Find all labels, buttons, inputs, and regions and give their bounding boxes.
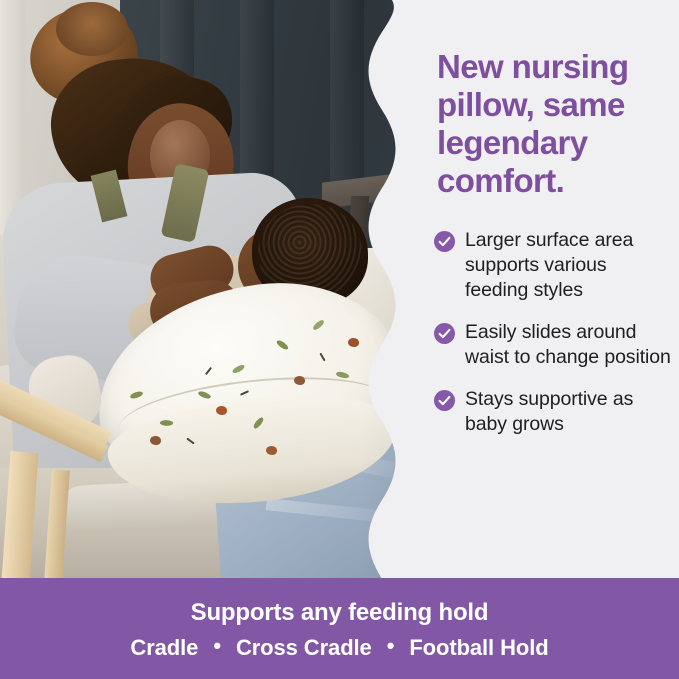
feature-list: Larger surface area supports various fee… [434,228,672,437]
pillow-print-animal [216,406,227,415]
pillow-print-animal [294,376,305,385]
banner-hold-list: Cradle • Cross Cradle • Football Hold [0,635,679,661]
list-item: Stays supportive as baby grows [434,387,672,437]
list-item-label: Easily slides around waist to change pos… [465,320,672,370]
hold-football: Football Hold [409,635,548,660]
hold-cradle: Cradle [130,635,198,660]
banner-title: Supports any feeding hold [0,599,679,627]
check-circle-icon [434,231,455,252]
list-item-label: Larger surface area supports various fee… [465,228,672,303]
mother-hair-bun-top [56,2,128,56]
list-item: Easily slides around waist to change pos… [434,320,672,370]
text-panel: New nursing pillow, same legendary comfo… [410,0,679,579]
pillow-print-animal [266,446,277,455]
hold-separator: • [387,633,395,659]
check-circle-icon [434,323,455,344]
list-item-label: Stays supportive as baby grows [465,387,672,437]
hold-separator: • [213,633,221,659]
product-feature-image: New nursing pillow, same legendary comfo… [0,0,679,679]
pillow-print-animal [150,436,161,445]
list-item: Larger surface area supports various fee… [434,228,672,303]
feeding-hold-banner: Supports any feeding hold Cradle • Cross… [0,578,679,679]
page-title: New nursing pillow, same legendary comfo… [437,48,669,200]
hold-cross-cradle: Cross Cradle [236,635,372,660]
check-circle-icon [434,390,455,411]
